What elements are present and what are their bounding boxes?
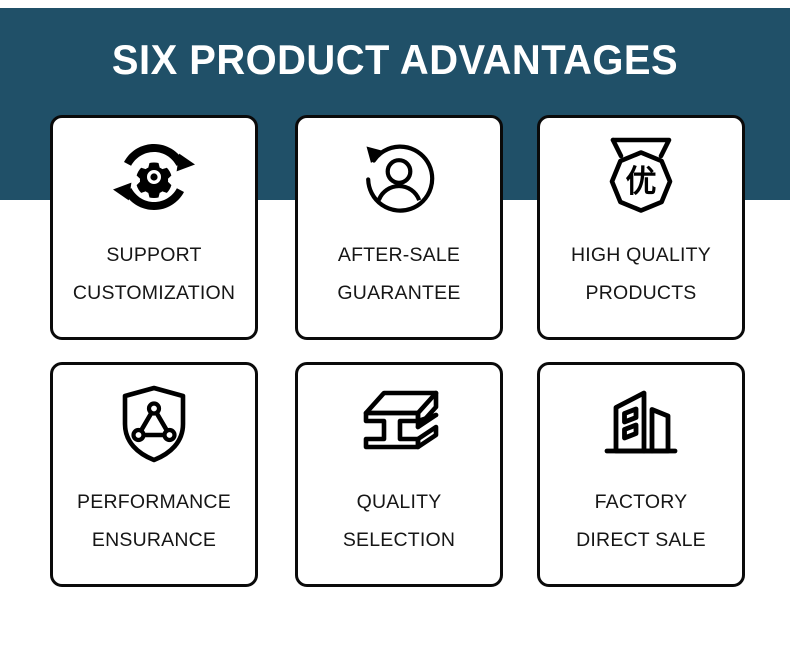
page-title: SIX PRODUCT ADVANTAGES [20,34,771,86]
cycle-gear-icon [53,118,255,236]
label-line-1: QUALITY [357,491,442,513]
factory-building-icon [540,365,742,483]
label-line-1: HIGH QUALITY [571,244,711,266]
user-refresh-icon [298,118,500,236]
advantage-card-label: SUPPORT CUSTOMIZATION [53,236,255,312]
advantages-grid: SUPPORT CUSTOMIZATION AFTER- [50,115,748,585]
advantage-card-support-customization[interactable]: SUPPORT CUSTOMIZATION [50,115,258,340]
advantage-card-factory-direct-sale[interactable]: FACTORY DIRECT SALE [537,362,745,587]
label-line-2: GUARANTEE [298,274,500,312]
advantage-card-label: HIGH QUALITY PRODUCTS [540,236,742,312]
label-line-2: PRODUCTS [540,274,742,312]
advantage-card-label: AFTER-SALE GUARANTEE [298,236,500,312]
label-line-2: DIRECT SALE [540,521,742,559]
advantage-card-quality-selection[interactable]: QUALITY SELECTION [295,362,503,587]
label-line-2: SELECTION [298,521,500,559]
advantage-card-label: QUALITY SELECTION [298,483,500,559]
advantage-card-high-quality-products[interactable]: 优 HIGH QUALITY PRODUCTS [537,115,745,340]
advantages-infographic: SIX PRODUCT ADVANTAGES SUPPORT [0,0,790,647]
label-line-2: ENSURANCE [53,521,255,559]
label-line-1: PERFORMANCE [77,491,231,513]
label-line-1: AFTER-SALE [338,244,460,266]
label-line-1: FACTORY [595,491,688,513]
label-line-1: SUPPORT [106,244,201,266]
steel-ibeam-icon [298,365,500,483]
shield-network-icon [53,365,255,483]
advantage-card-performance-ensurance[interactable]: PERFORMANCE ENSURANCE [50,362,258,587]
medal-character: 优 [626,164,657,200]
advantage-card-label: FACTORY DIRECT SALE [540,483,742,559]
advantage-card-after-sale-guarantee[interactable]: AFTER-SALE GUARANTEE [295,115,503,340]
label-line-2: CUSTOMIZATION [53,274,255,312]
medal-you-icon: 优 [540,118,742,236]
advantage-card-label: PERFORMANCE ENSURANCE [53,483,255,559]
